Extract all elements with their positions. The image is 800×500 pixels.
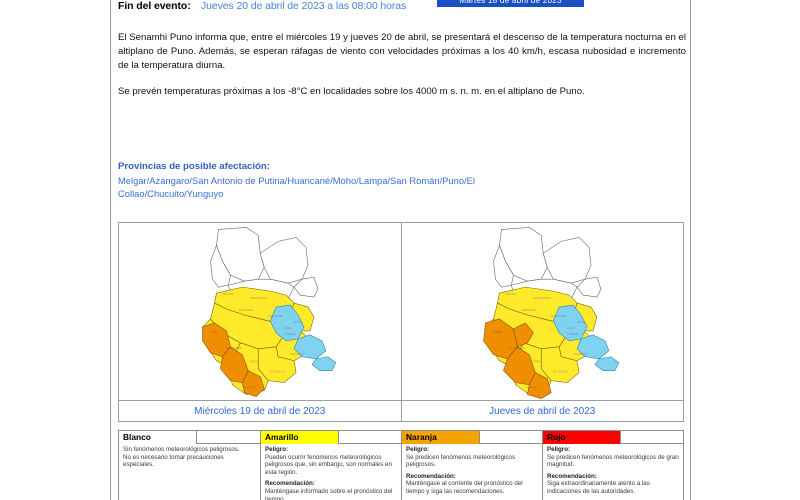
legend-swatch-naranja: Naranja: [402, 431, 480, 444]
legend-peligro-text-amarillo: Pueden ocurrir fenómenos meteorológicos …: [265, 454, 397, 477]
map-caption-wednesday: Miércoles 19 de abril de 2023: [119, 400, 401, 421]
svg-text:SAN ANTONIO: SAN ANTONIO: [250, 296, 268, 300]
provinces-list: Melgar/Azángaro/San Antonio de Putina/Hu…: [118, 174, 538, 200]
event-end-value: Jueves 20 de abril de 2023 a las 08:00 h…: [201, 0, 406, 12]
svg-text:HUANCANE: HUANCANE: [268, 314, 283, 318]
advisory-paragraph-1: El Senamhi Puno informa que, entre el mi…: [118, 31, 686, 74]
puno-map-wednesday: MELGAR SAN ANTONIO AZANGARO HUANCANE MOH…: [119, 223, 401, 401]
legend-body-naranja: Peligro: Se predicen fenómenos meteoroló…: [402, 444, 542, 496]
legend-recomendacion-label-rojo: Recomendación:: [547, 473, 597, 480]
svg-text:AZANGARO: AZANGARO: [238, 308, 252, 312]
svg-text:TITICACA: TITICACA: [284, 332, 296, 336]
map-caption-thursday: Jueves de abril de 2023: [402, 400, 684, 421]
legend-recomendacion-label-naranja: Recomendación:: [406, 473, 456, 480]
legend-body-amarillo: Peligro: Pueden ocurrir fenómenos meteor…: [261, 444, 401, 500]
legend-recomendacion-label-amarillo: Recomendación:: [265, 480, 315, 487]
svg-text:AZANGARO: AZANGARO: [521, 308, 535, 312]
page-border-right: [690, 0, 691, 500]
svg-text:LAGO: LAGO: [284, 326, 291, 330]
legend-column-naranja: Naranja Peligro: Se predicen fenómenos m…: [401, 431, 542, 500]
map-cell-thursday: MELGAR SAN ANTONIO AZANGARO HUANCANE MOH…: [401, 223, 684, 421]
legend-header-rojo: Rojo: [543, 431, 683, 444]
svg-text:YUNGUYO: YUNGUYO: [525, 386, 538, 390]
svg-text:HUANCANE: HUANCANE: [551, 314, 566, 318]
legend-recomendacion-text-amarillo: Manténgase informado sobre el pronóstico…: [265, 488, 397, 500]
svg-text:MELGAR: MELGAR: [505, 292, 516, 296]
legend-swatch-blanco: Blanco: [119, 431, 197, 444]
map-cell-wednesday: MELGAR SAN ANTONIO AZANGARO HUANCANE MOH…: [119, 223, 401, 421]
legend-recomendacion-text-blanco: No es necesario tomar precauciones espec…: [123, 454, 256, 469]
svg-text:SAN ROMAN: SAN ROMAN: [509, 346, 525, 350]
svg-text:MOHO: MOHO: [294, 320, 302, 324]
advisory-paragraph-2: Se prevén temperaturas próximas a los -8…: [118, 85, 690, 99]
legend-peligro-label-rojo: Peligro:: [547, 446, 570, 453]
legend-column-blanco: Blanco Sin fenómenos meteorológicos peli…: [119, 431, 260, 500]
legend-body-blanco: Sin fenómenos meteorológicos peligrosos.…: [119, 444, 260, 469]
legend-peligro-text-blanco: Sin fenómenos meteorológicos peligrosos.: [123, 446, 256, 454]
legend-swatch-rojo: Rojo: [543, 431, 621, 444]
svg-text:SAN ANTONIO: SAN ANTONIO: [533, 296, 551, 300]
svg-text:SAN ROMAN: SAN ROMAN: [226, 346, 242, 350]
legend-body-rojo: Peligro: Se predicen fenómenos meteoroló…: [543, 444, 683, 496]
event-header: Fin del evento: Jueves 20 de abril de 20…: [118, 0, 684, 14]
legend-recomendacion-text-rojo: Siga extraordinariamente atento a las in…: [547, 480, 679, 495]
legend-peligro-text-rojo: Se predicen fenómenos meteorológicos de …: [547, 454, 679, 469]
legend-column-amarillo: Amarillo Peligro: Pueden ocurrir fenómen…: [260, 431, 401, 500]
event-end-label: Fin del evento:: [118, 0, 191, 12]
svg-text:LAGO: LAGO: [567, 326, 574, 330]
svg-text:LAMPA: LAMPA: [211, 330, 220, 334]
provinces-title: Provincias de posible afectación:: [118, 161, 270, 172]
svg-text:EL COLLAO: EL COLLAO: [553, 370, 567, 374]
document-page: Fin del evento: Jueves 20 de abril de 20…: [0, 0, 800, 500]
legend-peligro-text-naranja: Se predicen fenómenos meteorológicos pel…: [406, 454, 538, 469]
legend-header-naranja: Naranja: [402, 431, 542, 444]
svg-text:PUNO: PUNO: [250, 360, 257, 364]
maps-panel: MELGAR SAN ANTONIO AZANGARO HUANCANE MOH…: [118, 222, 684, 422]
legend-peligro-label-naranja: Peligro:: [406, 446, 429, 453]
svg-text:TITICACA: TITICACA: [567, 332, 579, 336]
legend-column-rojo: Rojo Peligro: Se predicen fenómenos mete…: [542, 431, 683, 500]
legend-peligro-label-amarillo: Peligro:: [265, 446, 288, 453]
svg-text:CHUCUITO: CHUCUITO: [290, 352, 304, 356]
legend-swatch-amarillo: Amarillo: [261, 431, 339, 444]
svg-text:YUNGUYO: YUNGUYO: [242, 386, 255, 390]
svg-text:MOHO: MOHO: [577, 320, 585, 324]
puno-map-thursday: MELGAR SAN ANTONIO AZANGARO HUANCANE MOH…: [402, 223, 684, 401]
page-border-left: [110, 0, 111, 500]
svg-text:EL COLLAO: EL COLLAO: [270, 370, 284, 374]
svg-text:MELGAR: MELGAR: [222, 292, 233, 296]
svg-text:CHUCUITO: CHUCUITO: [573, 352, 587, 356]
issue-date-badge: Martes 18 de abril de 2023: [437, 0, 584, 7]
svg-text:PUNO: PUNO: [533, 360, 540, 364]
svg-text:LAMPA: LAMPA: [493, 330, 502, 334]
legend-recomendacion-text-naranja: Manténgase al corriente del pronóstico d…: [406, 480, 538, 495]
legend-header-amarillo: Amarillo: [261, 431, 401, 444]
legend-header-blanco: Blanco: [119, 431, 260, 444]
alert-level-legend: Blanco Sin fenómenos meteorológicos peli…: [118, 430, 684, 500]
